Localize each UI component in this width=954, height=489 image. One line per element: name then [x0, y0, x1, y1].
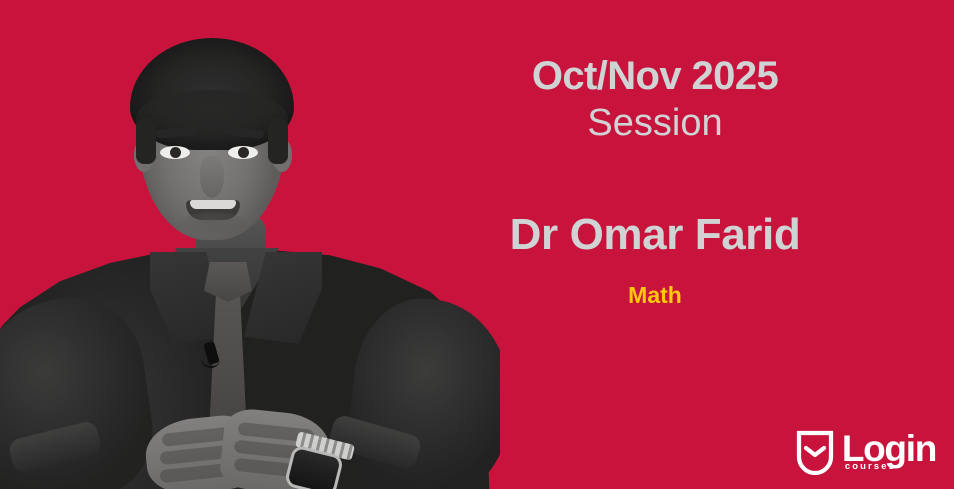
- logo-tagline: courses: [845, 461, 896, 472]
- shield-chevron-icon: [795, 429, 835, 475]
- nose: [200, 156, 224, 198]
- chin: [176, 212, 250, 242]
- session-title: Oct/Nov 2025: [532, 56, 778, 96]
- left-sideburn: [136, 118, 156, 164]
- left-eye: [160, 146, 190, 159]
- right-eye: [228, 146, 258, 159]
- course-promo-banner: Oct/Nov 2025 Session Dr Omar Farid Math …: [0, 0, 954, 489]
- banner-text-block: Oct/Nov 2025 Session Dr Omar Farid Math: [420, 0, 890, 340]
- right-sideburn: [268, 118, 288, 164]
- brand-logo[interactable]: Login courses: [795, 429, 936, 475]
- logo-wordmark: Login courses: [842, 432, 936, 471]
- subject-label: Math: [628, 282, 682, 309]
- instructor-name: Dr Omar Farid: [510, 210, 801, 260]
- session-subtitle: Session: [587, 100, 722, 148]
